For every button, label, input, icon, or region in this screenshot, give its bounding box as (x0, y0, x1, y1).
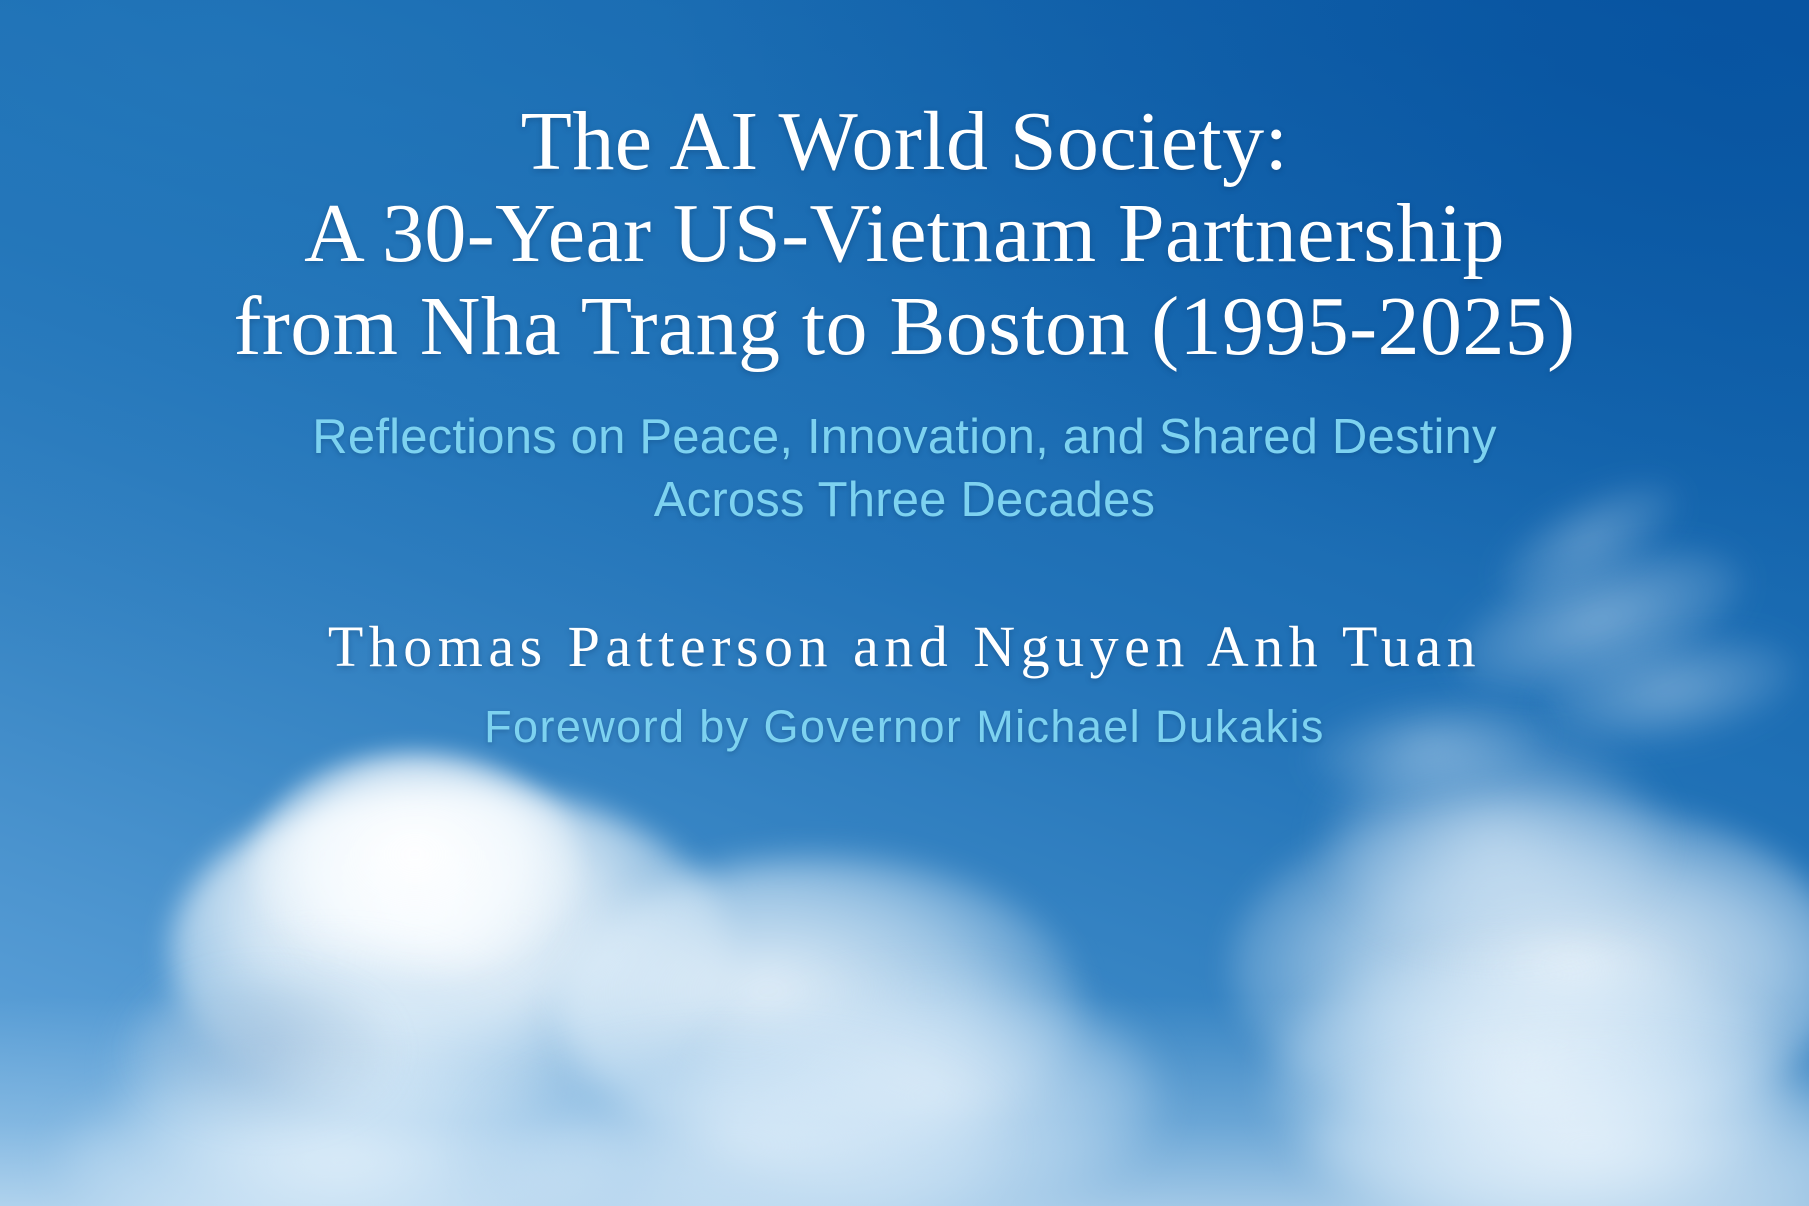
book-subtitle: Reflections on Peace, Innovation, and Sh… (0, 406, 1809, 531)
title-line-3: from Nha Trang to Boston (1995-2025) (0, 281, 1809, 373)
book-byline: Thomas Patterson and Nguyen Anh Tuan For… (0, 612, 1809, 754)
book-title: The AI World Society: A 30-Year US-Vietn… (0, 96, 1809, 373)
title-line-1: The AI World Society: (0, 96, 1809, 188)
foreword-credit: Foreword by Governor Michael Dukakis (0, 700, 1809, 754)
book-cover: The AI World Society: A 30-Year US-Vietn… (0, 0, 1809, 1206)
author-names: Thomas Patterson and Nguyen Anh Tuan (0, 612, 1809, 682)
title-line-2: A 30-Year US-Vietnam Partnership (0, 188, 1809, 280)
cover-text-layer: The AI World Society: A 30-Year US-Vietn… (0, 0, 1809, 1206)
subtitle-line-1: Reflections on Peace, Innovation, and Sh… (0, 406, 1809, 469)
subtitle-line-2: Across Three Decades (0, 469, 1809, 532)
